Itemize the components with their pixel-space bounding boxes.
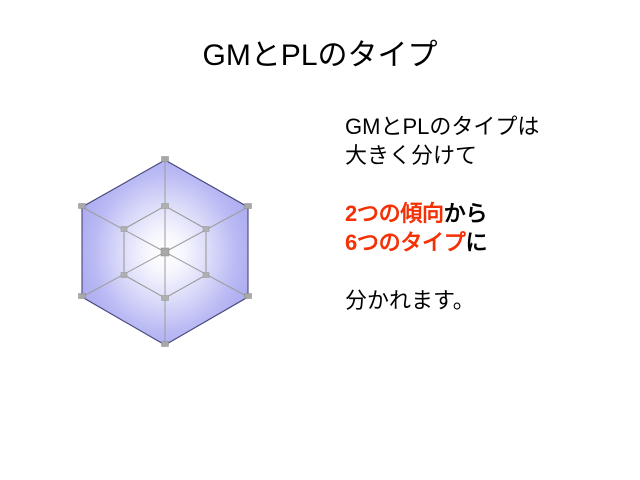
text-run-accent: 2つの傾向 xyxy=(345,201,444,226)
text-run-plain: から xyxy=(444,201,487,226)
text-line: 大きく分けて xyxy=(345,141,625,170)
paragraph-conclusion: 分かれます。 xyxy=(345,286,625,315)
paragraph-spacer xyxy=(345,257,625,286)
text-run-plain: に xyxy=(465,230,487,255)
page-title: GMとPLのタイプ xyxy=(0,36,640,76)
paragraph-spacer xyxy=(345,170,625,199)
text-line: 分かれます。 xyxy=(345,286,625,315)
center-handle[interactable] xyxy=(161,248,169,256)
text-run-accent: 6つのタイプ xyxy=(345,230,465,255)
text-line: GMとPLのタイプは xyxy=(345,112,625,141)
body-text-block: GMとPLのタイプは 大きく分けて 2つの傾向から 6つのタイプに 分かれます。 xyxy=(345,112,625,315)
text-line: 6つのタイプに xyxy=(345,228,625,257)
slide-canvas: GMとPLのタイプ xyxy=(0,0,640,480)
text-line: 2つの傾向から xyxy=(345,199,625,228)
paragraph-intro: GMとPLのタイプは 大きく分けて xyxy=(345,112,625,170)
paragraph-highlight: 2つの傾向から 6つのタイプに xyxy=(345,199,625,257)
hexagon-diagram-svg xyxy=(60,140,280,370)
hexagon-diagram[interactable] xyxy=(60,140,280,370)
